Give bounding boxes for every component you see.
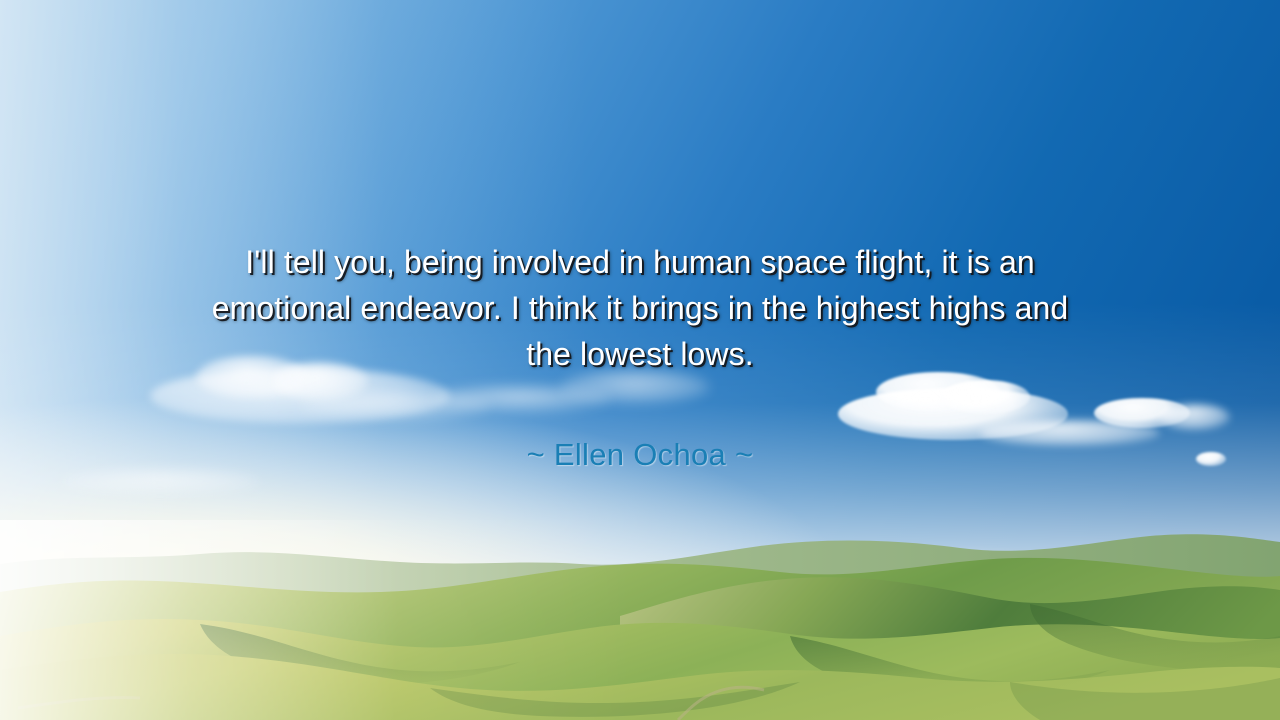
quote-line-1: I'll tell you, being involved in human s… [95, 239, 1185, 285]
quote-image-canvas: I'll tell you, being involved in human s… [0, 0, 1280, 720]
quote-line-2: emotional endeavor. I think it brings in… [95, 285, 1185, 331]
quote-overlay: I'll tell you, being involved in human s… [0, 0, 1280, 720]
quote-author: ~ Ellen Ochoa ~ [527, 436, 754, 474]
quote-text: I'll tell you, being involved in human s… [95, 239, 1185, 377]
quote-line-3: the lowest lows. [95, 331, 1185, 377]
